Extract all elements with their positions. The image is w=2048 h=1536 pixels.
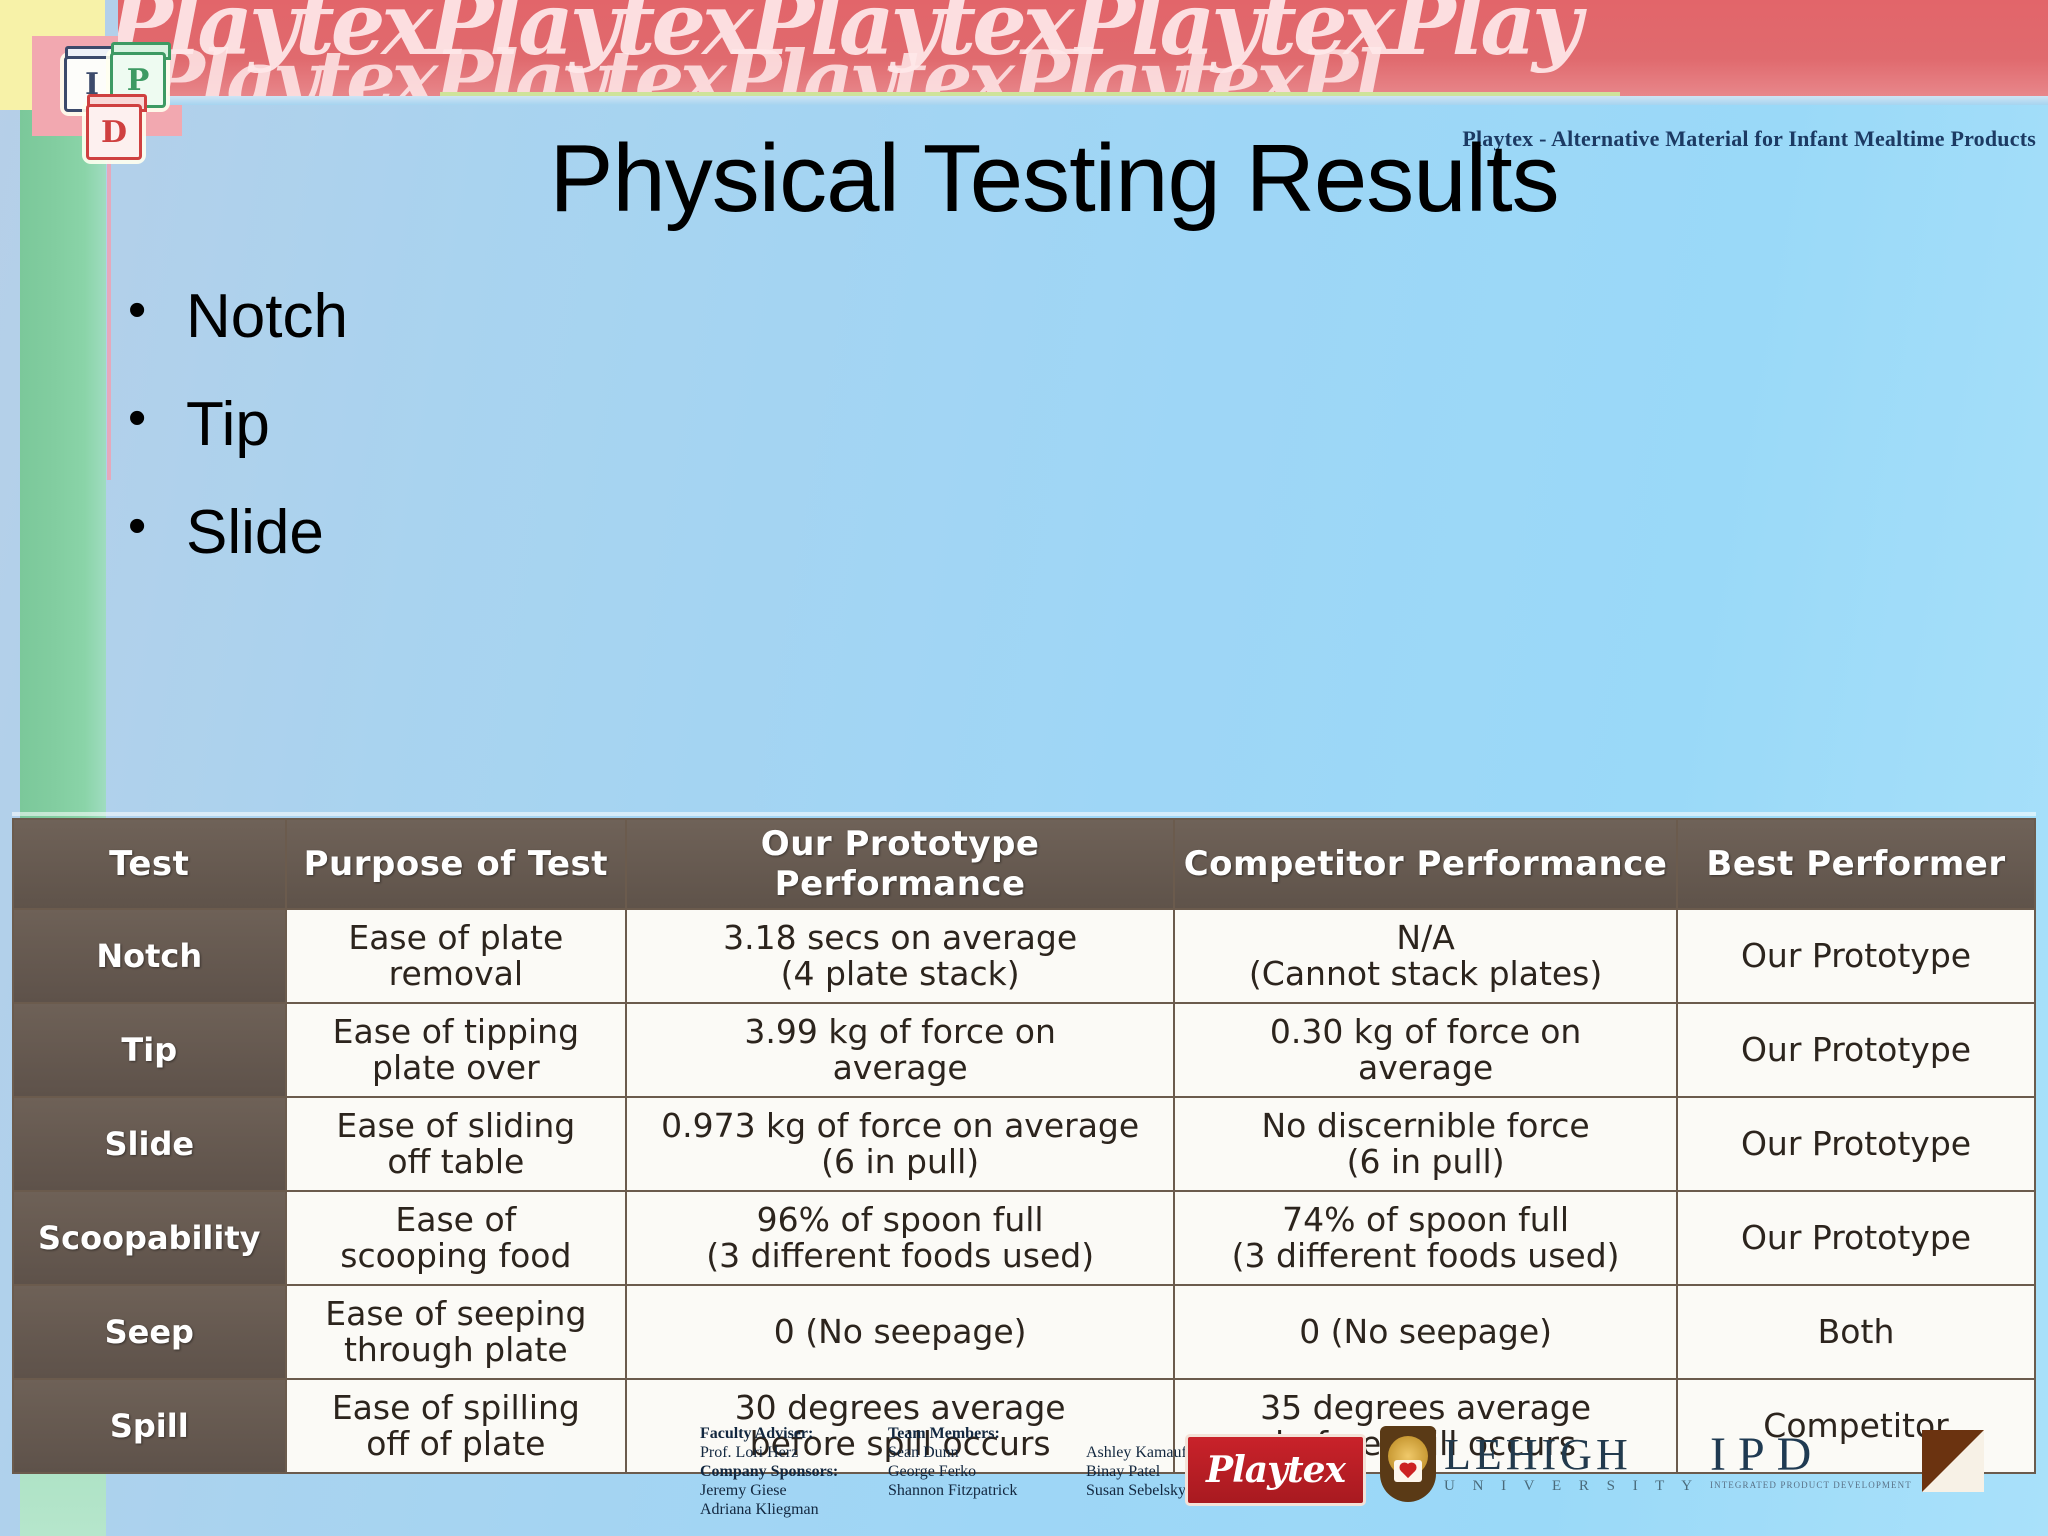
column-header-test: Test [13,819,286,909]
lehigh-crest-icon [1380,1426,1436,1502]
bullet-label: Notch [186,282,348,352]
column-header-prototype: Our Prototype Performance [626,819,1174,909]
column-header-best: Best Performer [1677,819,2035,909]
cell-best: Our Prototype [1677,1191,2035,1285]
table-row: Seep Ease of seepingthrough plate 0 (No … [13,1285,2035,1379]
table-row: Slide Ease of slidingoff table 0.973 kg … [13,1097,2035,1191]
team-member: Sean Dunn [888,1443,1068,1462]
row-header-test: Tip [13,1003,286,1097]
cell-prototype: 0 (No seepage) [626,1285,1174,1379]
banner-script-line-2: exPlaytexPlaytexPlaytexPlaytexPl [118,34,1380,98]
cell-competitor: 0.30 kg of force onaverage [1174,1003,1677,1097]
list-item: • Slide [128,498,348,568]
cell-competitor: 0 (No seepage) [1174,1285,1677,1379]
table-row: Tip Ease of tippingplate over 3.99 kg of… [13,1003,2035,1097]
faculty-adviser-label: Faculty Adviser: [700,1425,813,1442]
cell-purpose: Ease ofscooping food [286,1191,627,1285]
table-header-row: Test Purpose of Test Our Prototype Perfo… [13,819,2035,909]
company-sponsor-2: Adriana Kliegman [700,1500,870,1519]
banner-lower-edge [118,96,2048,105]
ipd-wordmark: IPD INTEGRATED PRODUCT DEVELOPMENT [1710,1431,1912,1491]
table-header: Test Purpose of Test Our Prototype Perfo… [13,819,2035,909]
bullet-label: Slide [186,498,324,568]
table-row: Scoopability Ease ofscooping food 96% of… [13,1191,2035,1285]
company-sponsors-label: Company Sponsors: [700,1463,838,1480]
table-body: Notch Ease of plateremoval 3.18 secs on … [13,909,2035,1473]
cell-purpose: Ease of slidingoff table [286,1097,627,1191]
list-item: • Tip [128,390,348,460]
cell-purpose: Ease of seepingthrough plate [286,1285,627,1379]
cell-competitor: N/A(Cannot stack plates) [1174,909,1677,1003]
column-header-purpose: Purpose of Test [286,819,627,909]
row-header-test: Slide [13,1097,286,1191]
list-item: • Notch [128,282,348,352]
row-header-test: Scoopability [13,1191,286,1285]
bullet-label: Tip [186,390,270,460]
slide-footer: Faculty Adviser: Prof. Lori Herz Company… [0,1416,2048,1536]
row-header-test: Notch [13,909,286,1003]
table-row: Notch Ease of plateremoval 3.18 secs on … [13,909,2035,1003]
table-top-highlight [12,812,2036,816]
ipd-triangle-icon [1922,1430,1984,1492]
credits-block: Faculty Adviser: Prof. Lori Herz Company… [700,1424,1236,1519]
cell-best: Our Prototype [1677,1003,2035,1097]
playtex-logo-text: Playtex [1206,1449,1345,1491]
cell-best: Our Prototype [1677,1097,2035,1191]
cell-prototype: 96% of spoon full(3 different foods used… [626,1191,1174,1285]
bullet-icon: • [128,390,186,446]
lehigh-wordmark: LEHIGH U N I V E R S I T Y [1444,1433,1699,1495]
row-header-test: Seep [13,1285,286,1379]
column-header-competitor: Competitor Performance [1174,819,1677,909]
cell-best: Both [1677,1285,2035,1379]
cell-competitor: No discernible force(6 in pull) [1174,1097,1677,1191]
cell-competitor: 74% of spoon full(3 different foods used… [1174,1191,1677,1285]
credits-column-team-left: Team Members: Sean Dunn George Ferko Sha… [888,1424,1068,1519]
lehigh-subtitle: U N I V E R S I T Y [1444,1477,1699,1495]
company-sponsor-1: Jeremy Giese [700,1481,870,1500]
bullet-icon: • [128,282,186,338]
physical-testing-results-table: Test Purpose of Test Our Prototype Perfo… [12,818,2036,1474]
ipd-name: IPD [1710,1431,1912,1479]
ipd-footer-logo: IPD INTEGRATED PRODUCT DEVELOPMENT [1710,1430,1984,1492]
credits-column-adviser: Faculty Adviser: Prof. Lori Herz Company… [700,1424,870,1519]
cell-prototype: 0.973 kg of force on average(6 in pull) [626,1097,1174,1191]
faculty-adviser-name: Prof. Lori Herz [700,1443,870,1462]
cell-prototype: 3.99 kg of force onaverage [626,1003,1174,1097]
cell-prototype: 3.18 secs on average(4 plate stack) [626,909,1174,1003]
team-member: Shannon Fitzpatrick [888,1481,1068,1500]
team-member: George Ferko [888,1462,1068,1481]
lehigh-name: LEHIGH [1444,1433,1699,1477]
results-table-wrapper: Test Purpose of Test Our Prototype Perfo… [12,818,2036,1474]
bullet-list: • Notch • Tip • Slide [128,282,348,606]
playtex-banner: PlaytexPlaytexPlaytexPlaytexPlay exPlayt… [118,0,2048,98]
cell-purpose: Ease of plateremoval [286,909,627,1003]
page-title: Physical Testing Results [0,124,2048,234]
cell-purpose: Ease of tippingplate over [286,1003,627,1097]
bullet-icon: • [128,498,186,554]
team-members-label: Team Members: [888,1425,1000,1442]
playtex-logo: Playtex [1185,1434,1366,1506]
cell-best: Our Prototype [1677,909,2035,1003]
ipd-subtitle: INTEGRATED PRODUCT DEVELOPMENT [1710,1479,1912,1491]
lehigh-logo: LEHIGH U N I V E R S I T Y [1380,1426,1699,1502]
